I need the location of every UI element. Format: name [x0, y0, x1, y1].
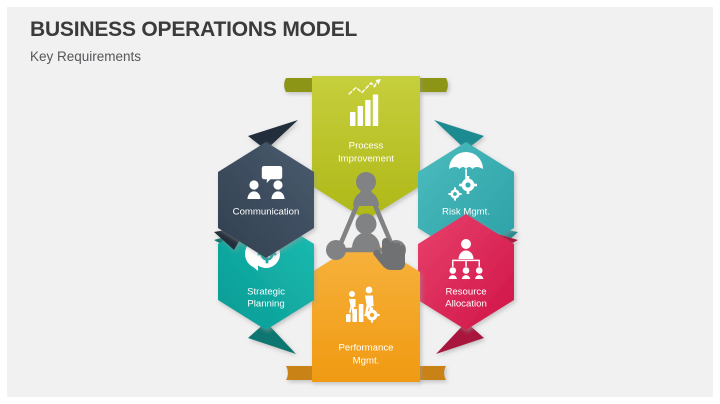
folded-wing-top	[248, 120, 298, 150]
ribbon-tab-left	[284, 78, 314, 92]
segment-communication[interactable]: Communication	[214, 120, 314, 258]
ribbon-tab-right	[418, 78, 448, 92]
page-title: BUSINESS OPERATIONS MODEL	[30, 18, 470, 41]
segment-label-line2: Improvement	[338, 154, 394, 165]
segment-label-line1: Process	[349, 141, 384, 152]
folded-wing-bottom	[436, 322, 484, 354]
slide-canvas: BUSINESS OPERATIONS MODEL Key Requiremen…	[0, 0, 720, 404]
folded-wing-top	[434, 120, 484, 150]
ribbon-tab-left	[286, 366, 314, 380]
segment-label-line1: Resource	[445, 287, 486, 298]
segment-label-line1: Strategic	[247, 287, 285, 298]
folded-wing-bottom	[248, 322, 296, 354]
segment-label-line2: Allocation	[445, 299, 487, 310]
segment-label-line1: Performance	[339, 343, 394, 354]
segment-label-line2: Mgmt.	[353, 356, 380, 367]
segment-label-line2: Planning	[247, 299, 284, 310]
segment-label-line1: Communication	[233, 207, 300, 218]
ribbon-tab-right	[418, 366, 446, 380]
hexagonal-cycle-diagram: Process Improvement	[166, 54, 566, 404]
